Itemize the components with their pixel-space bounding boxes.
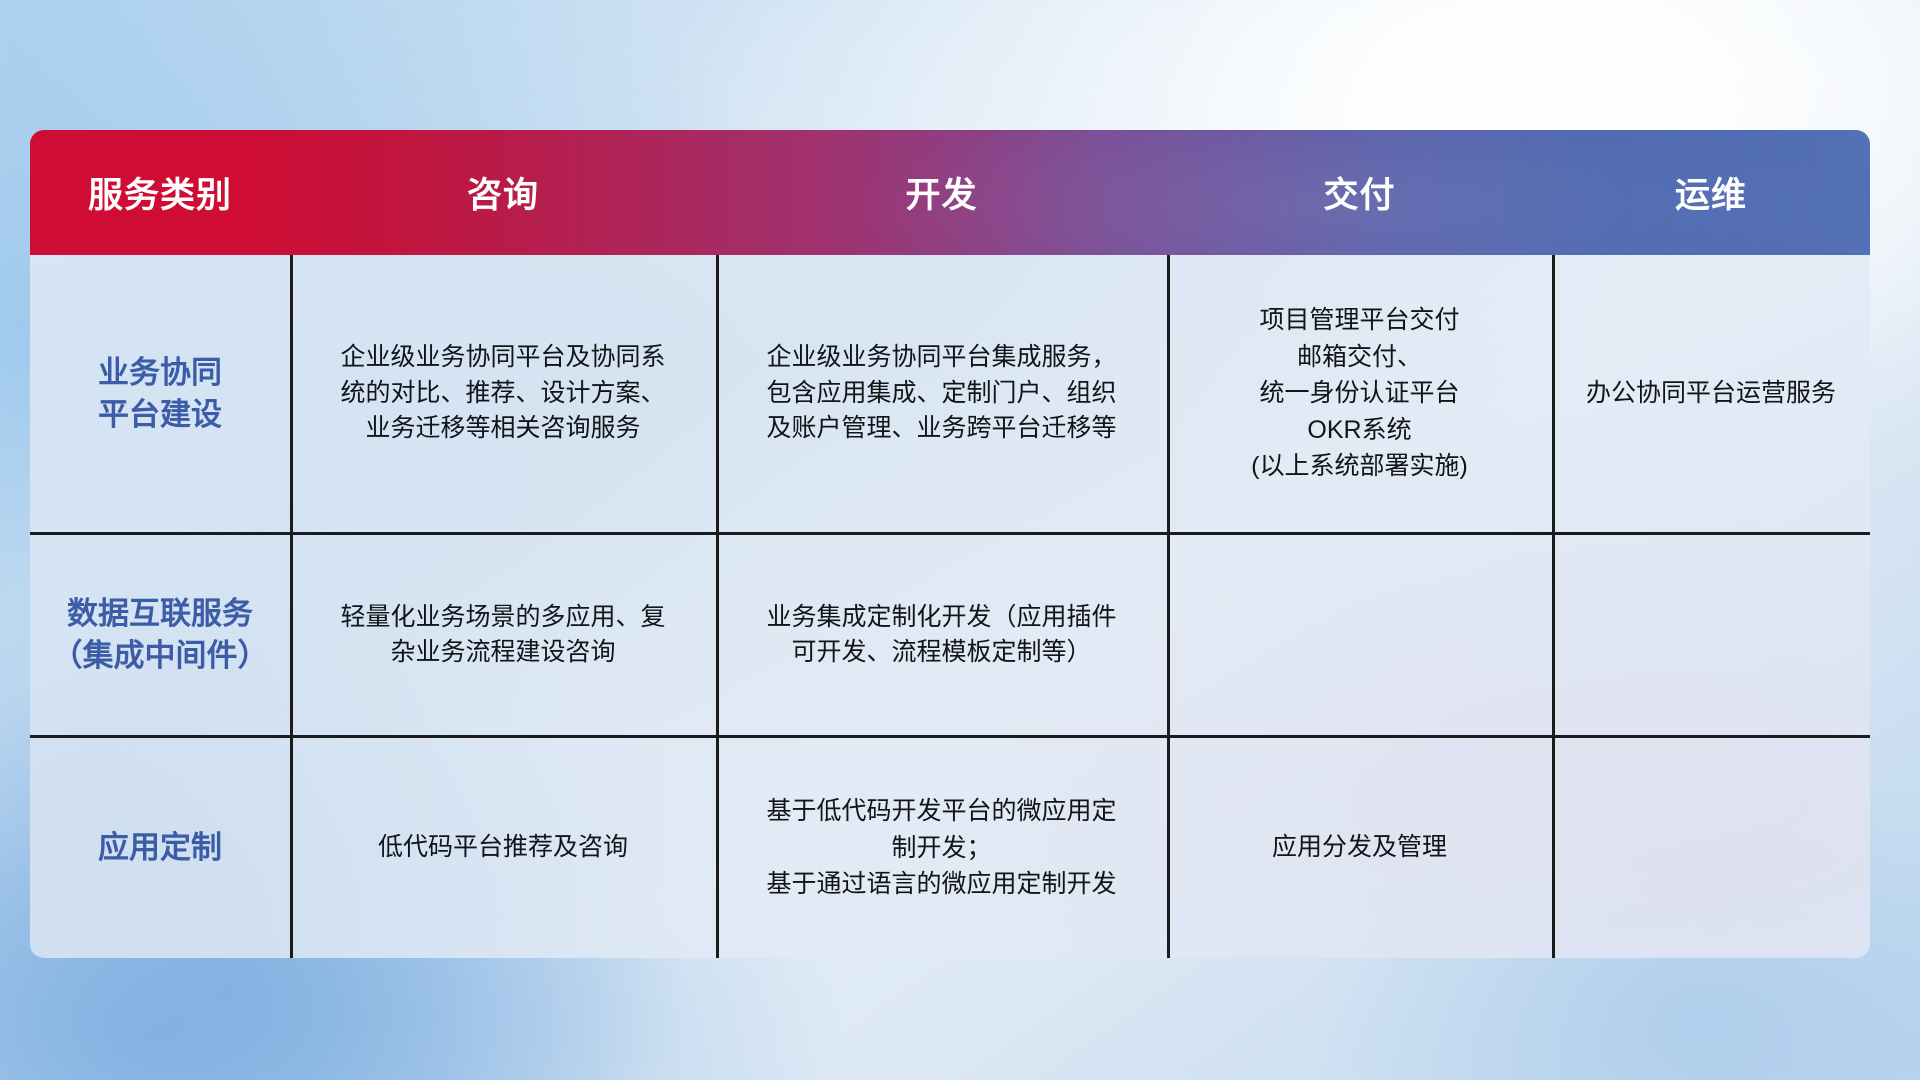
cell-text: 企业级业务协同平台及协同系 统的对比、推荐、设计方案、 业务迁移等相关咨询服务 — [340, 340, 665, 447]
cell-text: 基于低代码开发平台的微应用定 制开发； 基于通过语言的微应用定制开发 — [766, 793, 1116, 903]
column-header-development: 开发 — [716, 167, 1167, 218]
cell-operations-2 — [1552, 535, 1870, 735]
row-category-label: 业务协同 平台建设 — [98, 352, 222, 435]
table-row: 应用定制 低代码平台推荐及咨询 基于低代码开发平台的微应用定 制开发； 基于通过… — [30, 738, 1870, 958]
column-header-delivery: 交付 — [1167, 167, 1552, 218]
column-header-operations: 运维 — [1552, 167, 1870, 218]
cell-text: 办公协同平台运营服务 — [1586, 376, 1836, 412]
service-matrix-table: 服务类别 咨询 开发 交付 运维 业务协同 平台建设 企业级业务协同平台及协同系… — [30, 130, 1870, 958]
cell-category-2: 数据互联服务 （集成中间件） — [30, 535, 290, 735]
cell-text: 低代码平台推荐及咨询 — [378, 830, 628, 866]
cell-consulting-3: 低代码平台推荐及咨询 — [290, 738, 716, 958]
cell-delivery-2 — [1167, 535, 1552, 735]
cell-text: 业务集成定制化开发（应用插件 可开发、流程模板定制等） — [766, 600, 1116, 671]
table-header-row: 服务类别 咨询 开发 交付 运维 — [30, 130, 1870, 255]
cell-development-3: 基于低代码开发平台的微应用定 制开发； 基于通过语言的微应用定制开发 — [716, 738, 1167, 958]
cell-text: 项目管理平台交付 邮箱交付、 统一身份认证平台 OKR系统 (以上系统部署实施) — [1251, 302, 1468, 485]
cell-development-1: 企业级业务协同平台集成服务， 包含应用集成、定制门户、组织 及账户管理、业务跨平… — [716, 255, 1167, 532]
cell-text: 企业级业务协同平台集成服务， 包含应用集成、定制门户、组织 及账户管理、业务跨平… — [766, 340, 1116, 447]
cell-category-1: 业务协同 平台建设 — [30, 255, 290, 532]
cell-operations-1: 办公协同平台运营服务 — [1552, 255, 1870, 532]
cell-consulting-1: 企业级业务协同平台及协同系 统的对比、推荐、设计方案、 业务迁移等相关咨询服务 — [290, 255, 716, 532]
row-category-label: 数据互联服务 （集成中间件） — [52, 593, 269, 676]
column-header-category: 服务类别 — [30, 167, 290, 218]
cell-development-2: 业务集成定制化开发（应用插件 可开发、流程模板定制等） — [716, 535, 1167, 735]
table-body: 业务协同 平台建设 企业级业务协同平台及协同系 统的对比、推荐、设计方案、 业务… — [30, 255, 1870, 958]
column-header-consulting: 咨询 — [290, 167, 716, 218]
cell-category-3: 应用定制 — [30, 738, 290, 958]
table-row: 数据互联服务 （集成中间件） 轻量化业务场景的多应用、复 杂业务流程建设咨询 业… — [30, 535, 1870, 738]
cell-consulting-2: 轻量化业务场景的多应用、复 杂业务流程建设咨询 — [290, 535, 716, 735]
cell-text: 轻量化业务场景的多应用、复 杂业务流程建设咨询 — [340, 600, 665, 671]
cell-text: 应用分发及管理 — [1272, 830, 1447, 866]
table-row: 业务协同 平台建设 企业级业务协同平台及协同系 统的对比、推荐、设计方案、 业务… — [30, 255, 1870, 535]
row-category-label: 应用定制 — [98, 827, 222, 869]
cell-delivery-1: 项目管理平台交付 邮箱交付、 统一身份认证平台 OKR系统 (以上系统部署实施) — [1167, 255, 1552, 532]
cell-operations-3 — [1552, 738, 1870, 958]
cell-delivery-3: 应用分发及管理 — [1167, 738, 1552, 958]
